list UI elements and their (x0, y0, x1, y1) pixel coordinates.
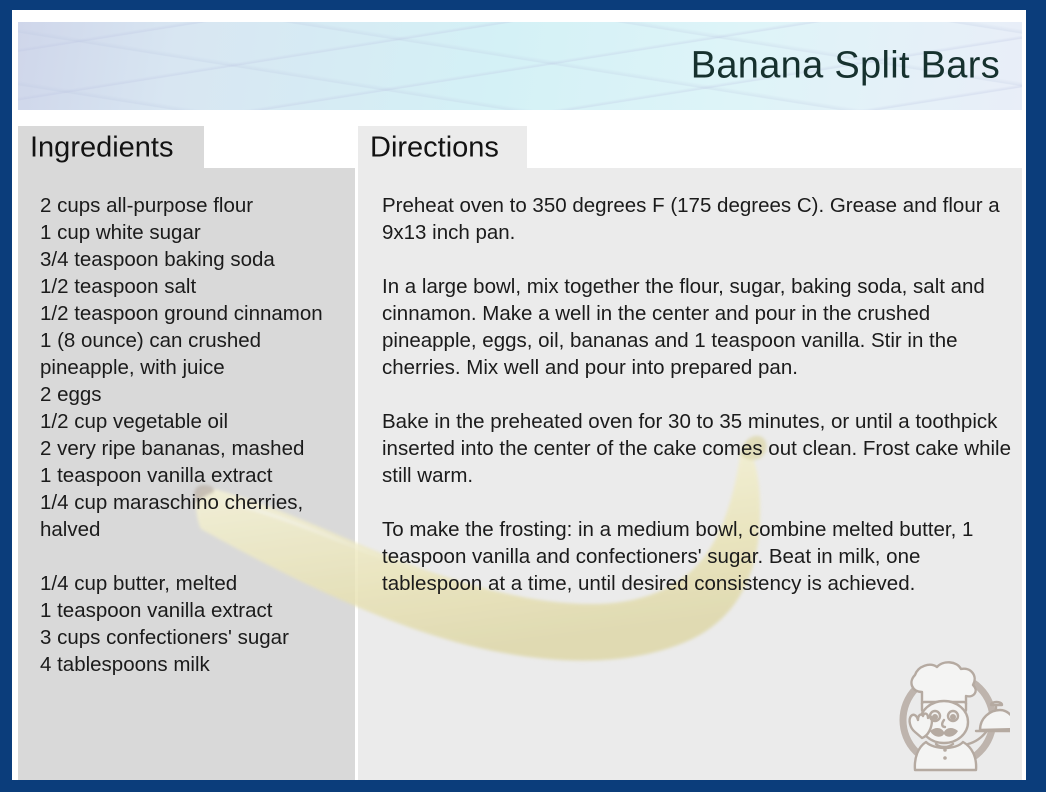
recipe-title: Banana Split Bars (691, 45, 1000, 88)
ingredients-list: 2 cups all-purpose flour 1 cup white sug… (40, 192, 346, 678)
ingredients-group-frosting: 1/4 cup butter, melted 1 teaspoon vanill… (40, 570, 346, 678)
direction-step: Preheat oven to 350 degrees F (175 degre… (382, 192, 1017, 246)
ingredient-item: 3 cups confectioners' sugar (40, 624, 346, 651)
frame-border-bottom (0, 780, 1046, 792)
directions-body: Preheat oven to 350 degrees F (175 degre… (382, 192, 1017, 597)
ingredient-item: 1/2 cup vegetable oil (40, 408, 346, 435)
ingredient-item: 1 (8 ounce) can crushed pineapple, with … (40, 327, 346, 381)
ingredient-item: 1 cup white sugar (40, 219, 346, 246)
ingredient-item: 2 eggs (40, 381, 346, 408)
ingredient-item: 1/4 cup maraschino cherries, halved (40, 489, 346, 543)
directions-heading-tab: Directions (358, 126, 527, 170)
direction-step: To make the frosting: in a medium bowl, … (382, 516, 1017, 597)
ingredients-heading-tab: Ingredients (18, 126, 204, 170)
ingredients-heading: Ingredients (30, 132, 174, 165)
ingredient-item: 1 teaspoon vanilla extract (40, 597, 346, 624)
ingredient-item: 1/4 cup butter, melted (40, 570, 346, 597)
ingredient-item: 2 cups all-purpose flour (40, 192, 346, 219)
recipe-card: Banana Split Bars Ingredients Directions (0, 0, 1046, 792)
ingredient-item: 2 very ripe bananas, mashed (40, 435, 346, 462)
ingredients-group-cake: 2 cups all-purpose flour 1 cup white sug… (40, 192, 346, 543)
ingredient-item: 3/4 teaspoon baking soda (40, 246, 346, 273)
ingredient-item: 1/2 teaspoon salt (40, 273, 346, 300)
frame-border-left (0, 0, 12, 792)
direction-step: In a large bowl, mix together the flour,… (382, 273, 1017, 381)
ingredient-item: 4 tablespoons milk (40, 651, 346, 678)
ingredient-item: 1/2 teaspoon ground cinnamon (40, 300, 346, 327)
ingredient-item: 1 teaspoon vanilla extract (40, 462, 346, 489)
frame-border-right (1026, 0, 1046, 792)
directions-heading: Directions (370, 132, 499, 165)
direction-step: Bake in the preheated oven for 30 to 35 … (382, 408, 1017, 489)
frame-border-top (0, 0, 1046, 10)
chef-mascot-logo (890, 658, 1010, 774)
header-banner: Banana Split Bars (18, 22, 1022, 110)
